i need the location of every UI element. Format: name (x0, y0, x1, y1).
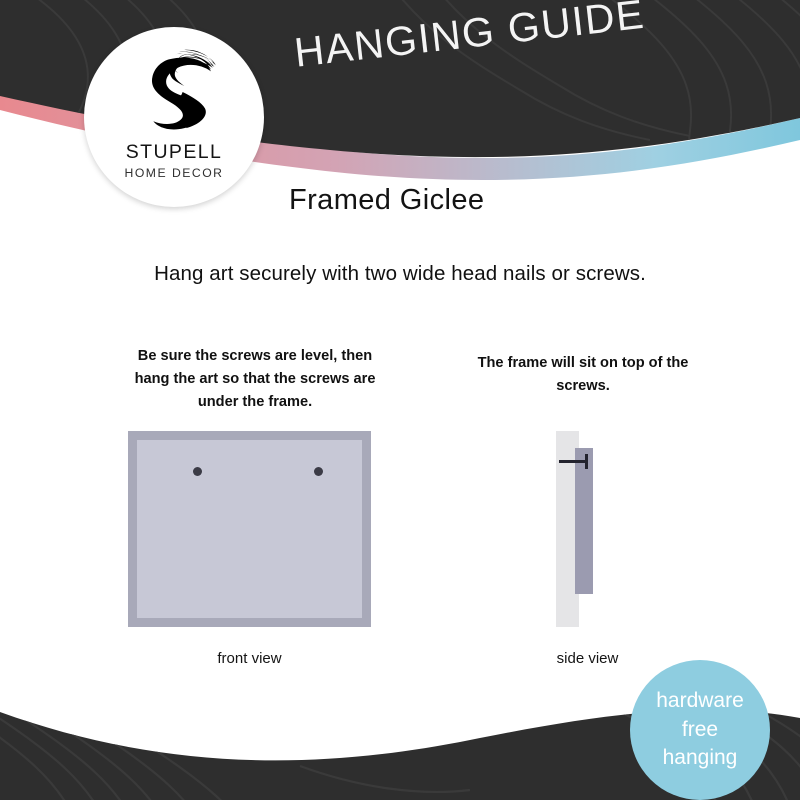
front-view-mat (137, 440, 362, 618)
lead-instruction: Hang art securely with two wide head nai… (0, 262, 800, 286)
badge-line-1: hardware (656, 687, 744, 715)
side-view-label: side view (495, 650, 680, 667)
hanging-guide-page: HANGING GUIDE STUPELL HOME DECOR Framed … (0, 0, 800, 800)
badge-line-2: free (682, 716, 718, 744)
front-view-diagram (128, 431, 371, 627)
screw-dot-right (314, 467, 323, 476)
hardware-free-badge: hardware free hanging (630, 660, 770, 800)
product-type-heading: Framed Giclee (289, 184, 484, 217)
screw-dot-left (193, 467, 202, 476)
front-view-label: front view (128, 650, 371, 667)
front-view-caption: Be sure the screws are level, then hang … (130, 345, 380, 414)
side-view-nail-shaft-icon (559, 460, 588, 463)
badge-line-3: hanging (663, 744, 738, 772)
side-view-caption: The frame will sit on top of the screws. (463, 352, 703, 398)
brand-logo-badge: STUPELL HOME DECOR (84, 27, 264, 207)
brand-tagline: HOME DECOR (125, 166, 224, 180)
brand-name: STUPELL (126, 141, 223, 164)
side-view-nail-head-icon (585, 454, 588, 469)
stupell-swoosh-icon (131, 49, 217, 135)
side-view-frame (575, 448, 593, 594)
